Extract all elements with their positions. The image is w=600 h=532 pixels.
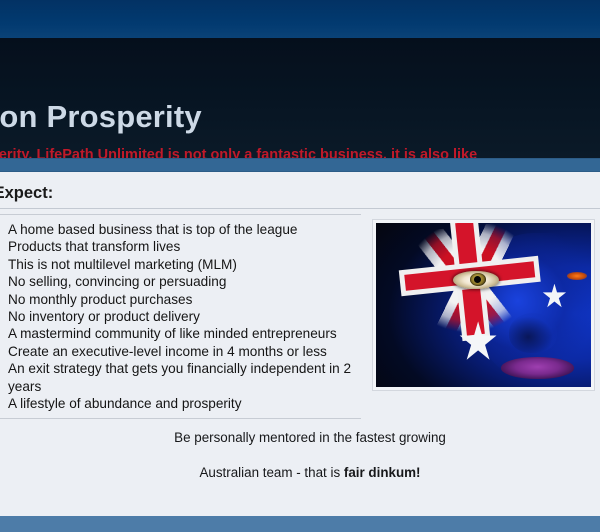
list-item: Create an executive-level income in 4 mo…: [8, 343, 361, 360]
australian-flag-face-image: [376, 223, 591, 387]
list-item: Products that transform lives: [8, 238, 361, 255]
expect-list-panel: A home based business that is top of the…: [0, 214, 361, 419]
face-pupil: [474, 276, 481, 283]
tagline-line-2: Australian team - that is fair dinkum!: [0, 465, 600, 480]
tagline-block: Be personally mentored in the fastest gr…: [0, 430, 600, 480]
expect-list: A home based business that is top of the…: [0, 215, 361, 418]
hero-header: us on Prosperity on Prosperity. LifePath…: [0, 38, 600, 158]
tagline-line-2-prefix: Australian team - that is: [199, 465, 343, 480]
list-item: A lifestyle of abundance and prosperity: [8, 395, 361, 412]
list-item: A home based business that is top of the…: [8, 221, 361, 238]
header-divider-bar: [0, 158, 600, 172]
main-content: t To Expect: A home based business that …: [0, 172, 600, 516]
page-title: us on Prosperity: [0, 100, 202, 134]
list-item: No selling, convincing or persuading: [8, 273, 361, 290]
flag-face-image-frame: [372, 219, 595, 391]
hero-subtitle-line-1: on Prosperity. LifePath Unlimited is not…: [0, 147, 477, 158]
tagline-line-1: Be personally mentored in the fastest gr…: [0, 430, 600, 445]
list-item: No monthly product purchases: [8, 291, 361, 308]
list-item: This is not multilevel marketing (MLM): [8, 256, 361, 273]
section-heading-what-to-expect: t To Expect:: [0, 184, 53, 203]
top-navy-strip: [0, 0, 600, 38]
face-lips: [501, 357, 574, 378]
list-item: No inventory or product delivery: [8, 308, 361, 325]
hero-subtitle: on Prosperity. LifePath Unlimited is not…: [0, 145, 600, 158]
tagline-line-2-emphasis: fair dinkum!: [344, 465, 421, 480]
bottom-blue-bar: [0, 516, 600, 532]
face-nose-shading: [509, 313, 556, 352]
list-item: An exit strategy that gets you financial…: [8, 360, 354, 395]
list-item: A mastermind community of like minded en…: [8, 325, 361, 342]
section-heading-rule: [0, 208, 600, 209]
